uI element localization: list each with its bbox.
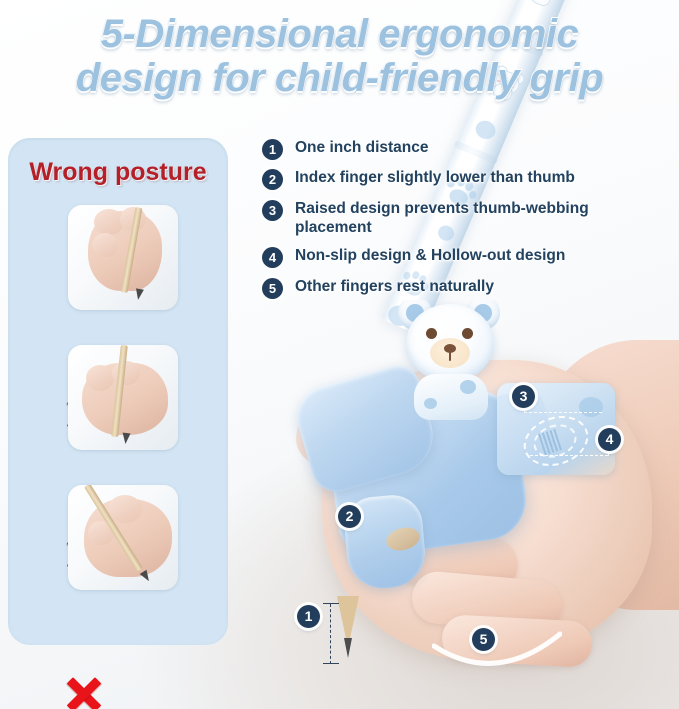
wrong-posture-panel: Wrong posture	[8, 138, 228, 645]
feature-number-3: 3	[262, 200, 283, 221]
infographic-canvas: 5-Dimensional ergonomic design for child…	[0, 0, 679, 709]
wrong-posture-photo-2	[68, 345, 178, 450]
photo-marker-3[interactable]: 3	[512, 385, 535, 408]
photo-marker-5[interactable]: 5	[472, 628, 495, 651]
decorative-dot	[579, 397, 603, 417]
wrong-posture-title: Wrong posture	[8, 158, 228, 187]
feature-list: 1 One inch distance 2 Index finger sligh…	[262, 138, 662, 307]
feature-item-2: 2 Index finger slightly lower than thumb	[262, 168, 662, 190]
feature-item-3: 3 Raised design prevents thumb-webbing p…	[262, 199, 662, 237]
feature-item-5: 5 Other fingers rest naturally	[262, 277, 662, 299]
feature-number-5: 5	[262, 278, 283, 299]
feature-text-5: Other fingers rest naturally	[295, 277, 494, 296]
photo-marker-4[interactable]: 4	[598, 428, 621, 451]
feature-number-2: 2	[262, 169, 283, 190]
photo-marker-2[interactable]: 2	[338, 505, 361, 528]
measure-bottom-tick	[323, 663, 339, 664]
decorative-dot	[460, 380, 476, 394]
leader-line-4	[530, 455, 608, 456]
page-title-line-1: 5-Dimensional ergonomic	[0, 12, 679, 56]
feature-text-1: One inch distance	[295, 138, 429, 157]
feature-number-4: 4	[262, 247, 283, 268]
bear-eye-right	[462, 328, 473, 339]
wrong-posture-photo-3	[68, 485, 178, 590]
bear-mouth-line	[449, 352, 451, 361]
feature-item-1: 1 One inch distance	[262, 138, 662, 160]
bear-eye-left	[426, 328, 437, 339]
page-title: 5-Dimensional ergonomic design for child…	[0, 12, 679, 100]
photo-marker-1[interactable]: 1	[297, 605, 320, 628]
feature-text-4: Non-slip design & Hollow-out design	[295, 246, 565, 265]
leader-line-3b	[524, 412, 602, 413]
bear-topper	[396, 300, 504, 410]
feature-item-4: 4 Non-slip design & Hollow-out design	[262, 246, 662, 268]
decorative-dot	[424, 398, 437, 409]
wrong-posture-photo-1	[68, 205, 178, 310]
mini-bear-icon	[523, 0, 563, 9]
feature-number-1: 1	[262, 139, 283, 160]
x-mark-icon	[64, 674, 104, 709]
finger-rest-arc	[432, 630, 562, 682]
bear-body	[414, 374, 488, 420]
feature-text-3: Raised design prevents thumb-webbing pla…	[295, 199, 635, 237]
measure-dashed-line	[330, 604, 331, 664]
pencil-tip	[337, 596, 359, 666]
feature-text-2: Index finger slightly lower than thumb	[295, 168, 575, 187]
measure-top-tick	[323, 603, 339, 604]
page-title-line-2: design for child-friendly grip	[0, 56, 679, 100]
